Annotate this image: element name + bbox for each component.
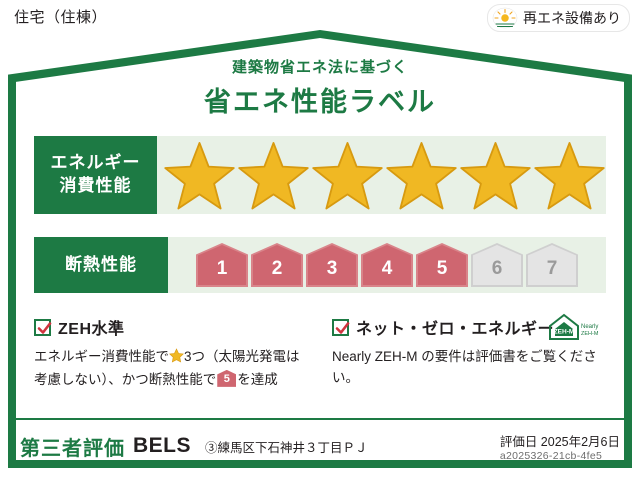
zeh-m-logo-icon: ZEH-M Nearly ZEH-M — [546, 311, 606, 345]
energy-performance-label: 住宅（住棟） 再エネ設備あり 建築物省エネ法に基づ — [0, 0, 640, 477]
insulation-grade-5: 5 — [416, 243, 468, 287]
insulation-row-label: 断熱性能 — [34, 237, 168, 293]
star-5 — [459, 140, 532, 210]
grade-number: 4 — [382, 258, 393, 287]
energy-label-line2: 消費性能 — [60, 175, 132, 198]
note-zeh-standard-title: ZEH水準 — [58, 315, 125, 339]
page-title: 省エネ性能ラベル — [0, 80, 640, 119]
insulation-grade-4: 4 — [361, 243, 413, 287]
energy-stars-container — [157, 136, 606, 214]
evaluation-date: 評価日 2025年2月6日 — [500, 431, 620, 450]
solar-equipment-badge: 再エネ設備あり — [487, 4, 630, 32]
evaluation-id: a2025326-21cb-4fe5 — [500, 450, 620, 462]
note-net-zero-energy: ネット・ゼロ・エネルギー Nearly ZEH-M の要件は評価書をご覧ください… — [332, 315, 606, 405]
star-4 — [385, 140, 458, 210]
insulation-performance-row: 断熱性能 1234567 — [34, 237, 606, 293]
note-zeh-standard: ZEH水準 エネルギー消費性能で3つ（太陽光発電は考慮しない）、かつ断熱性能で5… — [34, 315, 308, 405]
svg-text:ZEH-M: ZEH-M — [581, 331, 599, 337]
insulation-label-text: 断熱性能 — [65, 254, 137, 277]
scheme-name: BELS — [133, 434, 191, 458]
note-zeh-body-pre: エネルギー消費性能で — [34, 349, 169, 364]
evaluation-info: 評価日 2025年2月6日 a2025326-21cb-4fe5 — [500, 431, 624, 462]
mini-grade-number: 5 — [217, 370, 236, 387]
insulation-grade-2: 2 — [251, 243, 303, 287]
notes-section: ZEH水準 エネルギー消費性能で3つ（太陽光発電は考慮しない）、かつ断熱性能で5… — [34, 315, 606, 405]
grade-number: 5 — [437, 258, 448, 287]
grade-number: 3 — [327, 258, 338, 287]
star-rating — [163, 140, 606, 210]
property-address: ③練馬区下石神井３丁目ＰＪ — [205, 437, 368, 456]
grade-number: 1 — [217, 258, 228, 287]
energy-performance-row: エネルギー 消費性能 — [34, 136, 606, 214]
star-6 — [533, 140, 606, 210]
third-party-assessment-label: 第三者評価 — [20, 432, 125, 461]
insulation-grade-6: 6 — [471, 243, 523, 287]
sun-icon — [492, 7, 518, 29]
insulation-grade-3: 3 — [306, 243, 358, 287]
heading-sub: 建築物省エネ法に基づく — [0, 56, 640, 77]
mini-star-icon — [169, 348, 184, 370]
mini-grade-badge: 5 — [217, 370, 236, 387]
insulation-grade-scale: 1234567 — [196, 243, 578, 287]
note-zeh-standard-body: エネルギー消費性能で3つ（太陽光発電は考慮しない）、かつ断熱性能で5を達成 — [34, 347, 308, 391]
category-tag: 住宅（住棟） — [14, 6, 107, 27]
note-zeh-standard-head: ZEH水準 — [34, 315, 308, 339]
insulation-grades-container: 1234567 — [168, 237, 606, 293]
grade-number: 6 — [492, 258, 503, 287]
solar-badge-label: 再エネ設備あり — [523, 8, 621, 28]
insulation-grade-7: 7 — [526, 243, 578, 287]
star-3 — [311, 140, 384, 210]
note-zeh-body-post: を達成 — [237, 372, 278, 387]
note-net-zero-title: ネット・ゼロ・エネルギー — [356, 315, 554, 339]
bottom-bar: 第三者評価 BELS ③練馬区下石神井３丁目ＰＪ 評価日 2025年2月6日 a… — [16, 424, 624, 468]
grade-number: 7 — [547, 258, 558, 287]
energy-performance-row-label: エネルギー 消費性能 — [34, 136, 157, 214]
note-net-zero-body: Nearly ZEH-M の要件は評価書をご覧ください。 — [332, 347, 606, 389]
grade-number: 2 — [272, 258, 283, 287]
star-1 — [163, 140, 236, 210]
insulation-grade-1: 1 — [196, 243, 248, 287]
bottom-divider — [16, 418, 624, 420]
checkbox-checked-icon — [332, 319, 349, 336]
star-2 — [237, 140, 310, 210]
svg-text:ZEH-M: ZEH-M — [554, 329, 575, 336]
svg-text:Nearly: Nearly — [581, 324, 598, 330]
energy-label-line1: エネルギー — [51, 152, 141, 175]
checkbox-checked-icon — [34, 319, 51, 336]
